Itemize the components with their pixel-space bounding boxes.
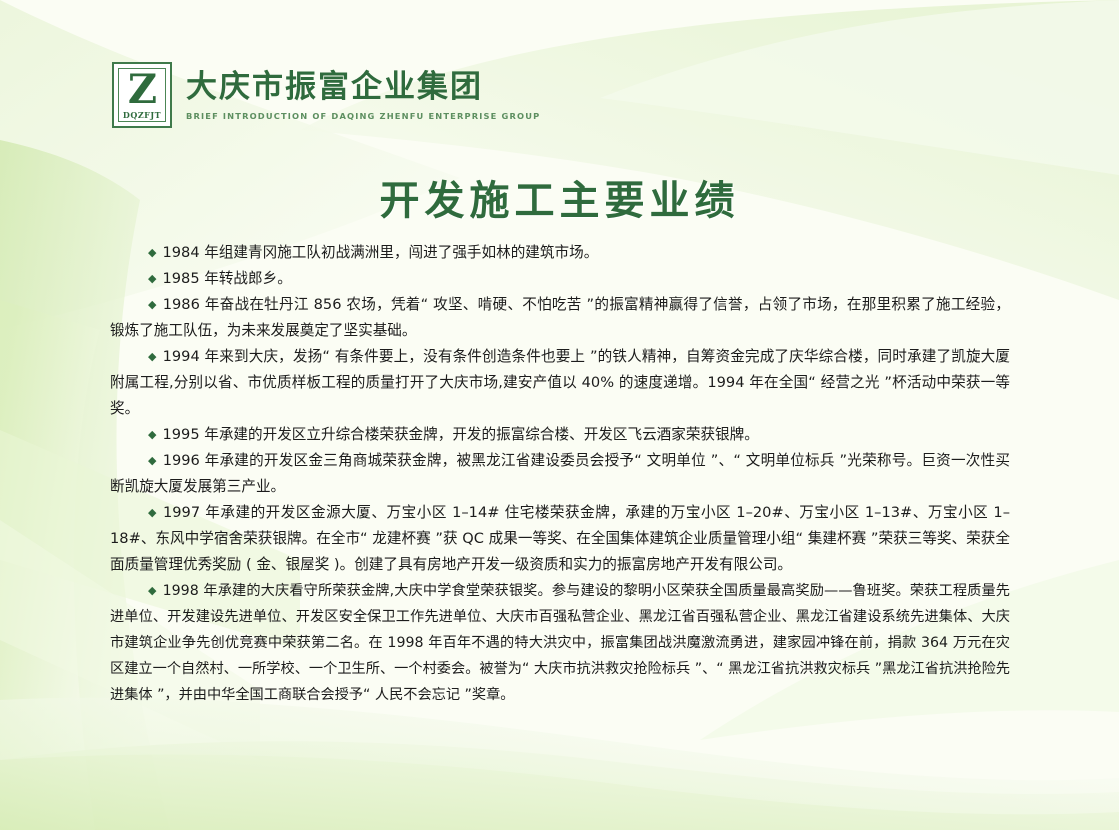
paragraph-text: 1985 年转战郎乡。: [162, 270, 291, 287]
paragraph-1994: ◆1994 年来到大庆，发扬“ 有条件要上，没有条件创造条件也要上 ”的铁人精神…: [110, 344, 1010, 422]
diamond-bullet-icon: ◆: [148, 454, 157, 467]
diamond-bullet-icon: ◆: [148, 428, 156, 441]
logo-abbreviation: DQZFJT: [123, 110, 161, 120]
page-title: 开发施工主要业绩: [0, 168, 1119, 226]
paragraph-text: 1986 年奋战在牡丹江 856 农场，凭着“ 攻坚、啃硬、不怕吃苦 ”的振富精…: [110, 296, 1010, 339]
paragraph-text: 1995 年承建的开发区立升综合楼荣获金牌，开发的振富综合楼、开发区飞云酒家荣获…: [162, 426, 758, 443]
paragraph-text: 1998 年承建的大庆看守所荣获金牌,大庆中学食堂荣获银奖。参与建设的黎明小区荣…: [110, 583, 1010, 703]
paragraph-text: 1994 年来到大庆，发扬“ 有条件要上，没有条件创造条件也要上 ”的铁人精神，…: [110, 348, 1010, 417]
diamond-bullet-icon: ◆: [148, 584, 157, 597]
company-name-cn: 大庆市振富企业集团: [186, 68, 540, 106]
content-body: ◆1984 年组建青冈施工队初战满洲里，闯进了强手如林的建筑市场。 ◆1985 …: [110, 240, 1010, 708]
paragraph-1985: ◆1985 年转战郎乡。: [110, 266, 1010, 292]
diamond-bullet-icon: ◆: [148, 506, 157, 519]
paragraph-1984: ◆1984 年组建青冈施工队初战满洲里，闯进了强手如林的建筑市场。: [110, 240, 1010, 266]
diamond-bullet-icon: ◆: [148, 246, 156, 259]
diamond-bullet-icon: ◆: [148, 298, 157, 311]
brand-text-block: 大庆市振富企业集团 BRIEF INTRODUCTION OF DAQING Z…: [186, 62, 540, 121]
paragraph-text: 1997 年承建的开发区金源大厦、万宝小区 1–14# 住宅楼荣获金牌，承建的万…: [110, 504, 1010, 573]
diamond-bullet-icon: ◆: [148, 272, 156, 285]
paragraph-1998: ◆1998 年承建的大庆看守所荣获金牌,大庆中学食堂荣获银奖。参与建设的黎明小区…: [110, 578, 1010, 708]
paragraph-1997: ◆1997 年承建的开发区金源大厦、万宝小区 1–14# 住宅楼荣获金牌，承建的…: [110, 500, 1010, 578]
slide-page: Z DQZFJT 大庆市振富企业集团 BRIEF INTRODUCTION OF…: [0, 0, 1119, 830]
paragraph-text: 1996 年承建的开发区金三角商城荣获金牌，被黑龙江省建设委员会授予“ 文明单位…: [110, 452, 1010, 495]
company-logo: Z DQZFJT: [112, 62, 172, 128]
paragraph-text: 1984 年组建青冈施工队初战满洲里，闯进了强手如林的建筑市场。: [162, 244, 598, 261]
paragraph-1996: ◆1996 年承建的开发区金三角商城荣获金牌，被黑龙江省建设委员会授予“ 文明单…: [110, 448, 1010, 500]
logo-letter: Z: [128, 71, 156, 109]
paragraph-1995: ◆1995 年承建的开发区立升综合楼荣获金牌，开发的振富综合楼、开发区飞云酒家荣…: [110, 422, 1010, 448]
brand-header: Z DQZFJT 大庆市振富企业集团 BRIEF INTRODUCTION OF…: [112, 62, 540, 128]
paragraph-1986: ◆1986 年奋战在牡丹江 856 农场，凭着“ 攻坚、啃硬、不怕吃苦 ”的振富…: [110, 292, 1010, 344]
company-name-en: BRIEF INTRODUCTION OF DAQING ZHENFU ENTE…: [186, 111, 540, 121]
diamond-bullet-icon: ◆: [148, 350, 157, 363]
